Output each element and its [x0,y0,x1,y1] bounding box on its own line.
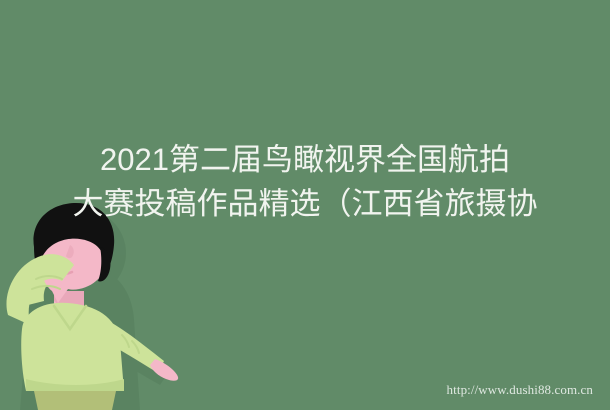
page-title: 2021第二届鸟瞰视界全国航拍 大赛投稿作品精选（江西省旅摄协 [0,138,610,226]
title-line-2: 大赛投稿作品精选（江西省旅摄协 [0,182,610,226]
poster-canvas: 2021第二届鸟瞰视界全国航拍 大赛投稿作品精选（江西省旅摄协 http://w… [0,0,610,410]
watermark-url: http://www.dushi88.com.cn [447,382,593,398]
pants [34,391,116,410]
illustration-person-scratching-head [0,195,200,410]
title-line-1: 2021第二届鸟瞰视界全国航拍 [0,138,610,182]
